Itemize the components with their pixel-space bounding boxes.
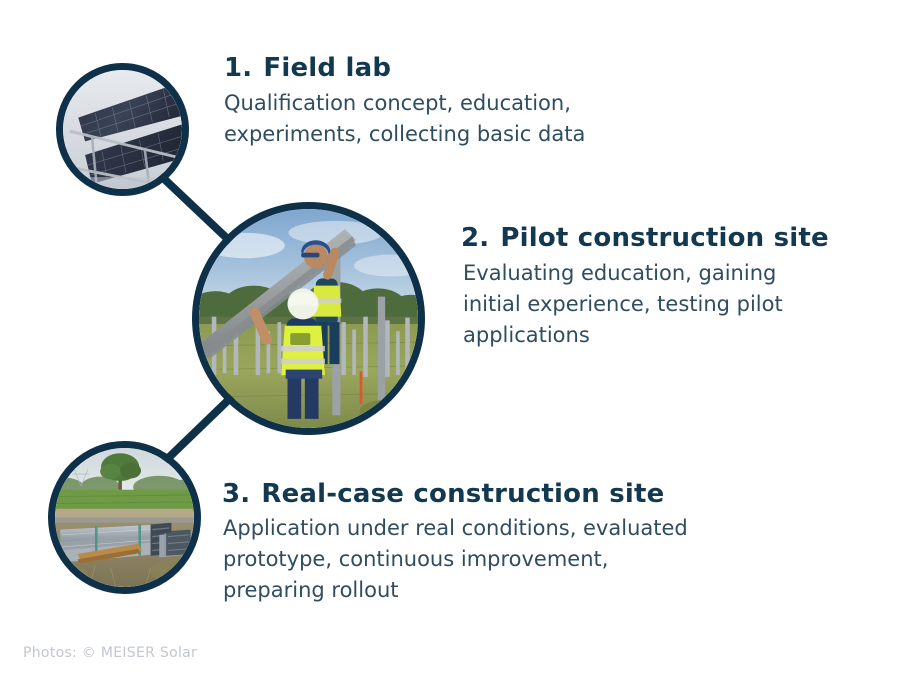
step-3-photo-circle — [48, 441, 201, 594]
step-2-body-line: initial experience, testing pilot — [463, 289, 829, 320]
step-1-text-block: 1.Field lab Qualification concept, educa… — [224, 52, 585, 150]
step-1-body-line: Qualification concept, education, — [224, 88, 585, 119]
step-3-title: Real-case construction site — [261, 479, 664, 509]
slide-canvas: 1.Field lab Qualification concept, educa… — [0, 0, 911, 683]
step-1-body-line: experiments, collecting basic data — [224, 119, 585, 150]
step-3-body-line: prototype, continuous improvement, — [223, 544, 688, 575]
step-2-body: Evaluating education, gaining initial ex… — [463, 258, 829, 351]
step-1-title: Field lab — [263, 53, 391, 83]
step-2-heading: 2.Pilot construction site — [461, 222, 829, 254]
step-2-body-line: Evaluating education, gaining — [463, 258, 829, 289]
solar-panel-array-photo — [63, 70, 182, 189]
step-3-body-line: preparing rollout — [223, 575, 688, 606]
workers-installing-beam-photo — [199, 209, 418, 428]
step-2-number: 2. — [461, 223, 489, 253]
step-1-photo-circle — [56, 63, 189, 196]
step-1-body: Qualification concept, education, experi… — [224, 88, 585, 150]
step-1-number: 1. — [224, 53, 252, 83]
stacked-steel-profiles-photo — [55, 448, 194, 587]
step-3-number: 3. — [222, 479, 250, 509]
step-2-title: Pilot construction site — [500, 223, 828, 253]
step-3-heading: 3.Real-case construction site — [222, 478, 688, 510]
step-3-body: Application under real conditions, evalu… — [223, 513, 688, 606]
step-2-text-block: 2.Pilot construction site Evaluating edu… — [461, 222, 829, 351]
photo-credit: Photos: © MEISER Solar — [23, 645, 197, 661]
step-1-heading: 1.Field lab — [224, 52, 585, 84]
step-3-text-block: 3.Real-case construction site Applicatio… — [222, 478, 688, 606]
step-2-body-line: applications — [463, 320, 829, 351]
step-2-photo-circle — [192, 202, 425, 435]
step-3-body-line: Application under real conditions, evalu… — [223, 513, 688, 544]
